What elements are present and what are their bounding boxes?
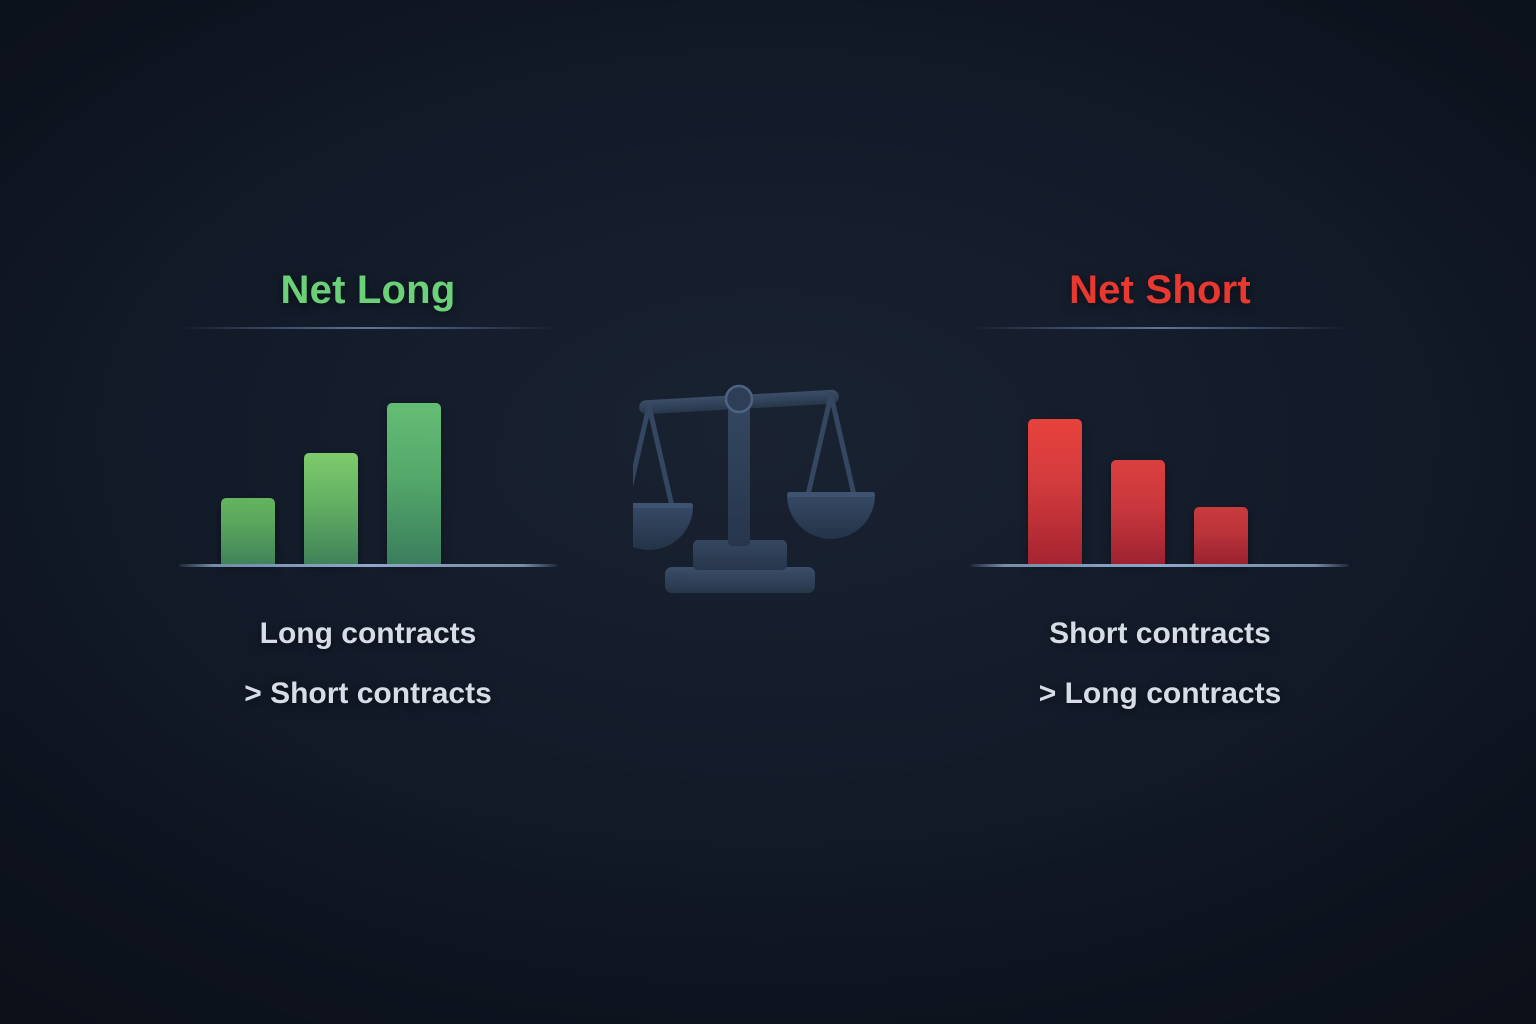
net-short-bar-3 <box>1194 507 1248 564</box>
net-long-caption-line-1: Long contracts <box>260 617 477 650</box>
net-short-caption: Short contracts > Long contracts <box>925 604 1395 724</box>
net-long-caption-line-2: > Short contracts <box>133 664 603 724</box>
net-long-bar-2 <box>304 453 358 564</box>
net-short-chart-baseline <box>971 564 1349 567</box>
net-long-title: Net Long <box>133 268 603 313</box>
net-long-bar-1 <box>221 498 275 564</box>
net-short-caption-line-2: > Long contracts <box>925 664 1395 724</box>
net-long-chart-baseline <box>179 564 557 567</box>
net-long-caption: Long contracts > Short contracts <box>133 604 603 724</box>
net-long-bar-3 <box>387 403 441 564</box>
net-short-title: Net Short <box>925 268 1395 313</box>
net-short-caption-line-1: Short contracts <box>1049 617 1271 650</box>
balance-scales-icon <box>633 378 903 633</box>
net-short-bar-2 <box>1111 460 1165 564</box>
net-long-bar-chart <box>179 392 557 567</box>
net-short-bar-1 <box>1028 419 1082 564</box>
net-short-bar-chart <box>971 392 1349 567</box>
infographic-canvas: Net Long Long contracts > Short contract… <box>0 0 1536 1024</box>
net-long-title-divider <box>179 327 557 329</box>
net-short-bar-group <box>1028 396 1248 564</box>
net-long-bar-group <box>221 396 441 564</box>
net-short-title-divider <box>971 327 1349 329</box>
